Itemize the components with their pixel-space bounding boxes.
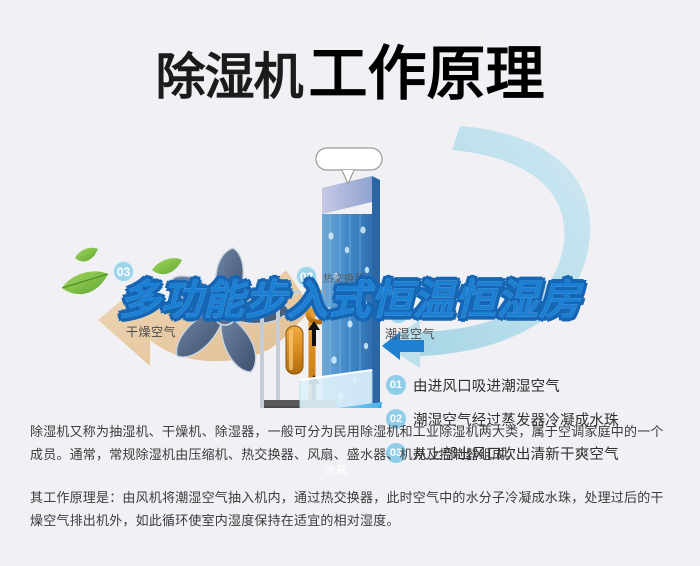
- page-title-part1: 除湿机: [155, 49, 302, 105]
- body-paragraph-1: 除湿机又称为抽湿机、干燥机、除湿器，一般可分为民用除湿机和工业除湿机两大类，属于…: [30, 420, 675, 466]
- compressor-shape: [286, 326, 303, 374]
- dry-air-label: 干燥空气: [126, 323, 176, 340]
- legend-label-01: 由进风口吸进潮湿空气: [413, 375, 560, 396]
- heat-exchanger-callout-label: 热交换器: [323, 270, 365, 285]
- diagram-badge-02: 02: [296, 266, 317, 287]
- page-root: 除湿机工作原理: [0, 0, 700, 566]
- page-title-part2: 工作原理: [308, 41, 544, 107]
- legend-badge-01: 01: [386, 375, 406, 395]
- dehumidifier-diagram: 热交换器 干燥空气 潮湿空气 水箱 03 02 01 01 由进风口吸进潮湿空气…: [0, 118, 700, 408]
- diagram-badge-01: 01: [388, 303, 409, 324]
- body-paragraph-2: 其工作原理是：由风机将潮湿空气抽入机内，通过热交换器，此时空气中的水分子冷凝成水…: [30, 486, 675, 532]
- diagram-badge-03: 03: [113, 261, 134, 282]
- diagram-artwork: [0, 118, 700, 408]
- humid-air-label: 潮湿空气: [385, 325, 435, 342]
- page-title: 除湿机工作原理: [0, 26, 700, 111]
- fan-shape: [173, 248, 289, 372]
- legend-item: 01 由进风口吸进潮湿空气: [386, 368, 686, 402]
